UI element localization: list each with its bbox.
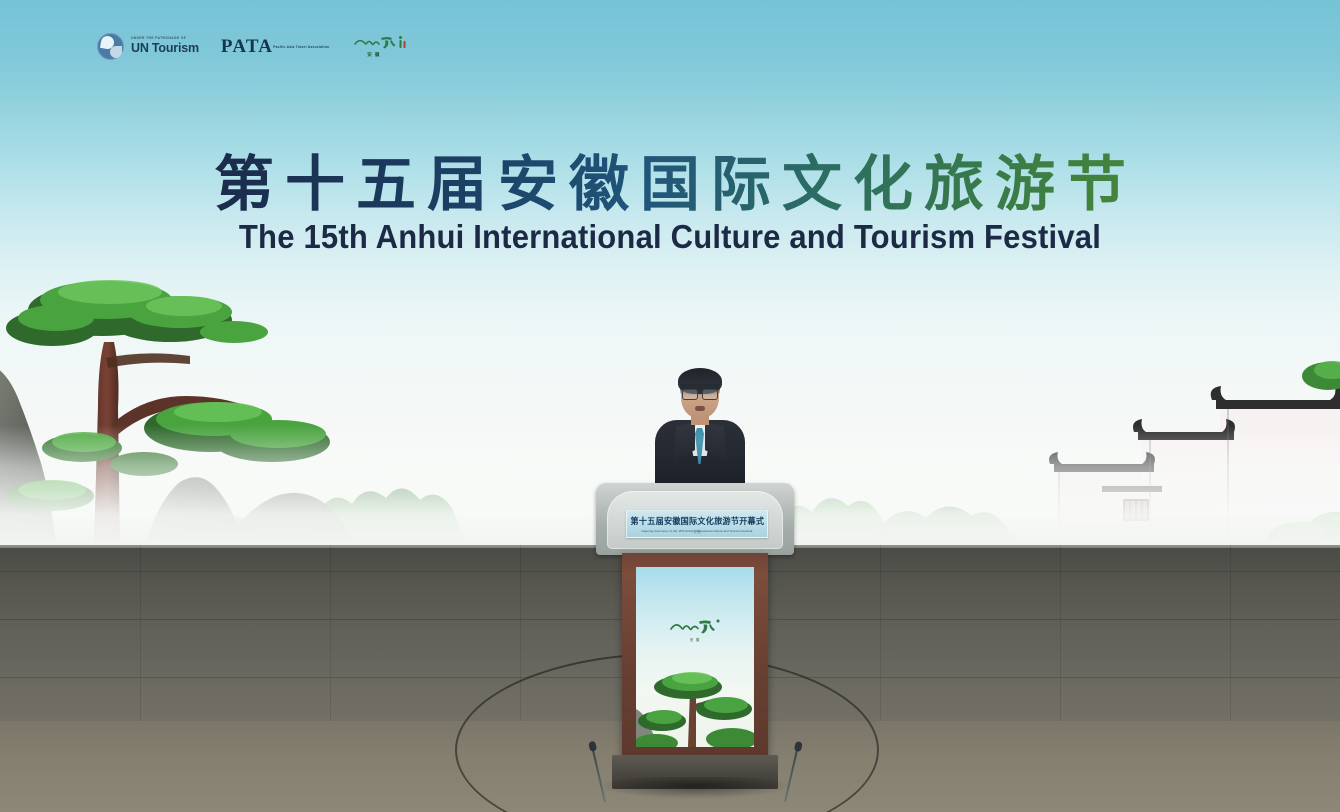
speaker-glasses-icon: [681, 389, 719, 398]
pata-sublabel: Pacific Asia Travel Association: [273, 46, 329, 49]
anhui-panel-logo-icon: [669, 617, 721, 637]
un-tourism-supertext: UNDER THE PATRONAGE OF: [131, 37, 199, 40]
podium-shadow: [598, 777, 792, 799]
podium-front-panel: 安 徽: [636, 567, 754, 747]
anhui-panel-sublabel: 安 徽: [690, 638, 701, 643]
pata-logo: PATA Pacific Asia Travel Association: [221, 37, 329, 56]
podium-wood-body: 安 徽: [622, 553, 768, 761]
un-tourism-label: UN Tourism: [131, 42, 199, 55]
huangshan-pine-illustration: [0, 246, 354, 545]
festival-title-chinese: 第十五届安徽国际文化旅游节: [0, 136, 1340, 223]
sponsor-logo-row: UNDER THE PATRONAGE OF UN Tourism PATA P…: [97, 26, 409, 66]
pata-label: PATA: [221, 37, 273, 56]
speaker-mouth: [695, 406, 705, 411]
anhui-brand-logo: 安 徽: [353, 31, 409, 61]
podium-sign-mark: 安徽: [693, 529, 701, 535]
huizhou-architecture-illustration: [1040, 360, 1340, 545]
anhui-brand-sublabel: 安 徽: [367, 52, 380, 58]
panel-pine-illustration: [636, 647, 754, 747]
podium-sign-chinese: 第十五届安徽国际文化旅游节开幕式: [630, 515, 764, 527]
un-tourism-logo: UNDER THE PATRONAGE OF UN Tourism: [97, 33, 199, 60]
podium-sign-plate: 第十五届安徽国际文化旅游节开幕式 Opening Ceremony of the…: [626, 510, 768, 538]
podium: 第十五届安徽国际文化旅游节开幕式 Opening Ceremony of the…: [596, 455, 794, 800]
festival-title-english: The 15th Anhui International Culture and…: [40, 218, 1300, 256]
anhui-script-icon: [353, 34, 409, 51]
un-globe-icon: [97, 33, 124, 60]
ceremony-photo: UNDER THE PATRONAGE OF UN Tourism PATA P…: [0, 0, 1340, 812]
